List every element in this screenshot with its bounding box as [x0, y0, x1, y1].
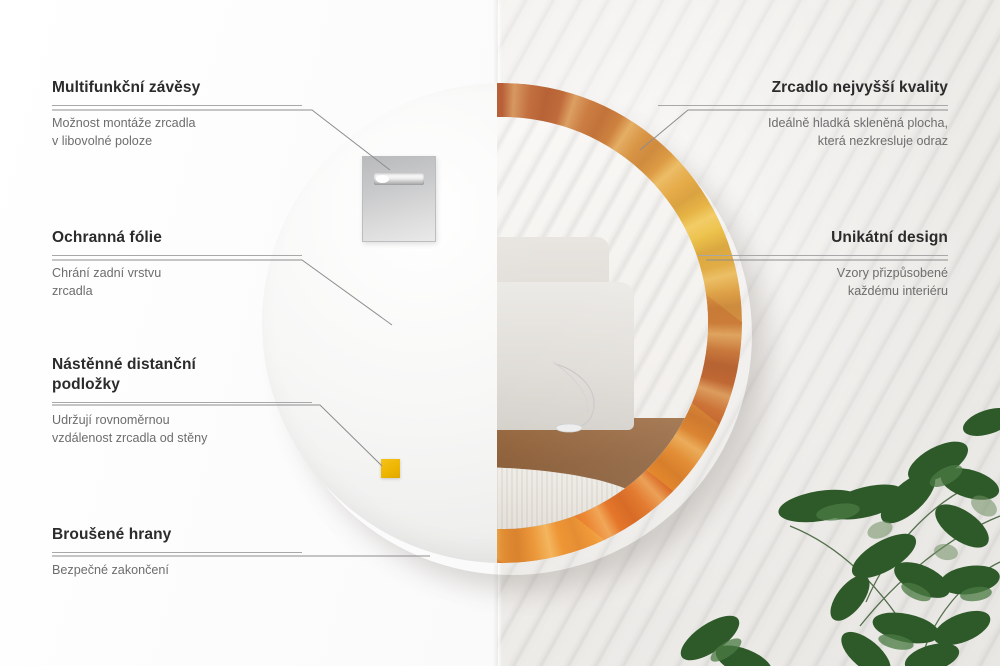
feature-divider	[698, 255, 948, 256]
feature-divider	[52, 402, 312, 403]
feature-block-multifunkcni-zavesy: Multifunkční závěsy Možnost montáže zrca…	[52, 78, 302, 151]
feature-desc: Vzory přizpůsobené každému interiéru	[698, 265, 948, 301]
feature-desc: Chrání zadní vrstvu zrcadla	[52, 265, 302, 301]
feature-title: Multifunkční závěsy	[52, 78, 302, 98]
feature-block-unikatni-design: Unikátní design Vzory přizpůsobené každé…	[698, 228, 948, 301]
feature-divider	[52, 105, 302, 106]
hanger-slot	[374, 173, 424, 185]
infographic-canvas: Multifunkční závěsy Možnost montáže zrca…	[0, 0, 1000, 666]
product-mirror	[262, 83, 742, 563]
feature-divider	[658, 105, 948, 106]
feature-desc: Ideálně hladká skleněná plocha, která ne…	[658, 115, 948, 151]
feature-title: Nástěnné distanční podložky	[52, 355, 312, 395]
feature-divider	[52, 255, 302, 256]
feature-divider	[52, 552, 302, 553]
feature-desc: Udržují rovnoměrnou vzdálenost zrcadla o…	[52, 412, 312, 448]
feature-title: Unikátní design	[698, 228, 948, 248]
feature-title: Ochranná fólie	[52, 228, 302, 248]
feature-block-zrcadlo-kvality: Zrcadlo nejvyšší kvality Ideálně hladká …	[658, 78, 948, 151]
feature-block-ochranna-folie: Ochranná fólie Chrání zadní vrstvu zrcad…	[52, 228, 302, 301]
feature-desc: Bezpečné zakončení	[52, 562, 302, 580]
feature-block-brousene-hrany: Broušené hrany Bezpečné zakončení	[52, 525, 302, 580]
wall-spacer-pad	[381, 459, 400, 478]
feature-block-nastenne-podlozky: Nástěnné distanční podložky Udržují rovn…	[52, 355, 312, 448]
feature-title: Zrcadlo nejvyšší kvality	[658, 78, 948, 98]
feature-title: Broušené hrany	[52, 525, 302, 545]
hanger-plate	[362, 156, 436, 242]
feature-desc: Možnost montáže zrcadla v libovolné polo…	[52, 115, 302, 151]
